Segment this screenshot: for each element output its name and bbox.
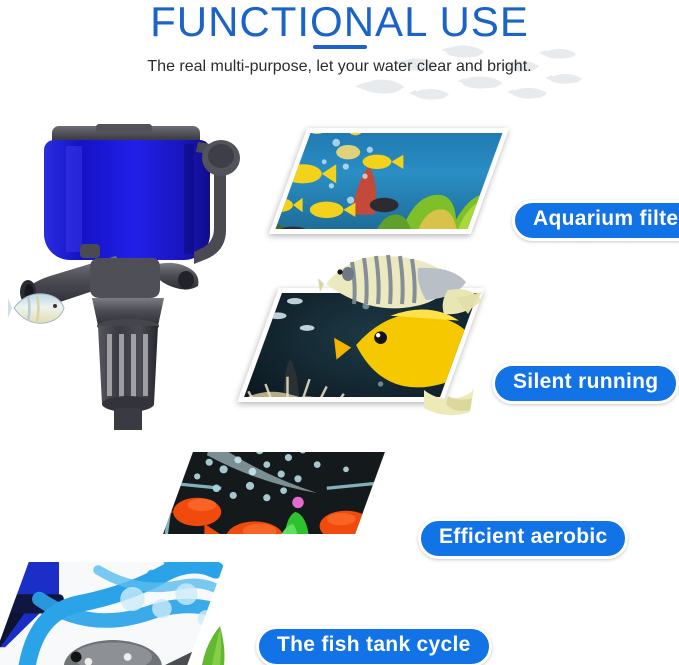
title-divider <box>313 45 367 49</box>
feature-badge-efficient-aerobic[interactable]: Efficient aerobic <box>418 518 628 559</box>
feature-badge-aquarium-filter[interactable]: Aquarium filter <box>512 200 679 241</box>
decorative-striped-fish <box>318 250 486 328</box>
page-title: FUNCTIONAL USE <box>0 0 679 46</box>
product-image-pump <box>8 112 258 430</box>
feature-photo-efficient-aerobic <box>163 452 385 534</box>
decorative-green-leaf <box>196 626 230 665</box>
infographic-canvas: FUNCTIONAL USE The real multi-purpose, l… <box>0 0 679 665</box>
decorative-fin-bottom <box>420 388 476 416</box>
feature-badge-silent-running[interactable]: Silent running <box>492 363 679 404</box>
page-subtitle: The real multi-purpose, let your water c… <box>0 58 679 76</box>
feature-badge-fish-tank-cycle[interactable]: The fish tank cycle <box>256 626 492 665</box>
decorative-fish-left <box>8 294 64 323</box>
feature-photo-aquarium-filter <box>269 128 510 234</box>
feature-photo-fish-tank-cycle <box>0 562 225 665</box>
